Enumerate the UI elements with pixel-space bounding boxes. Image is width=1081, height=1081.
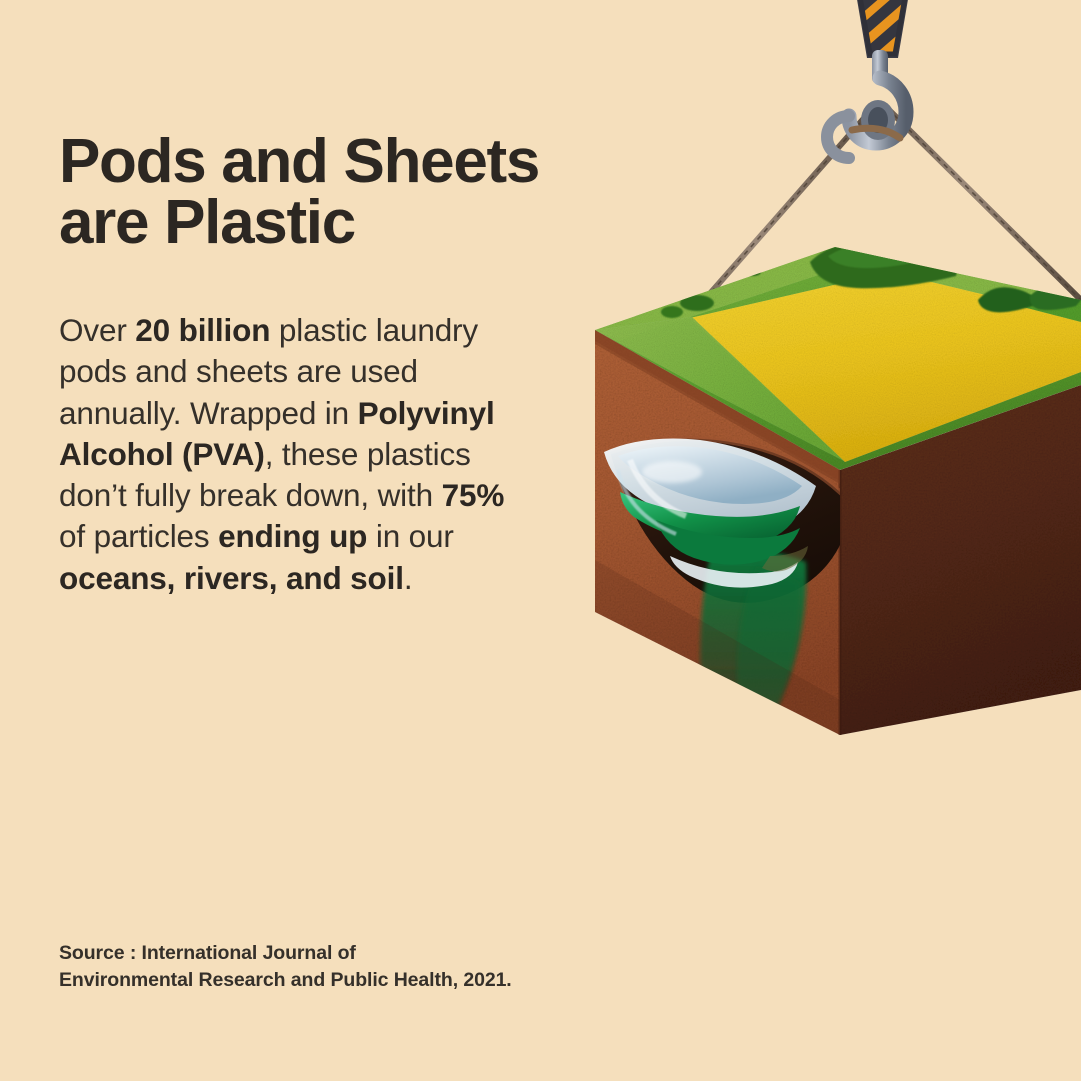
illustration-suspended-soil-block: [560, 0, 1081, 780]
page-title: Pods and Sheets are Plastic: [59, 131, 619, 254]
infographic-poster: Pods and Sheets are Plastic Over 20 bill…: [0, 0, 1081, 1081]
body-paragraph: Over 20 billion plastic laundry pods and…: [59, 310, 529, 599]
soil-cross-section: [595, 242, 1081, 735]
source-citation: Source : International Journal of Enviro…: [59, 940, 659, 994]
